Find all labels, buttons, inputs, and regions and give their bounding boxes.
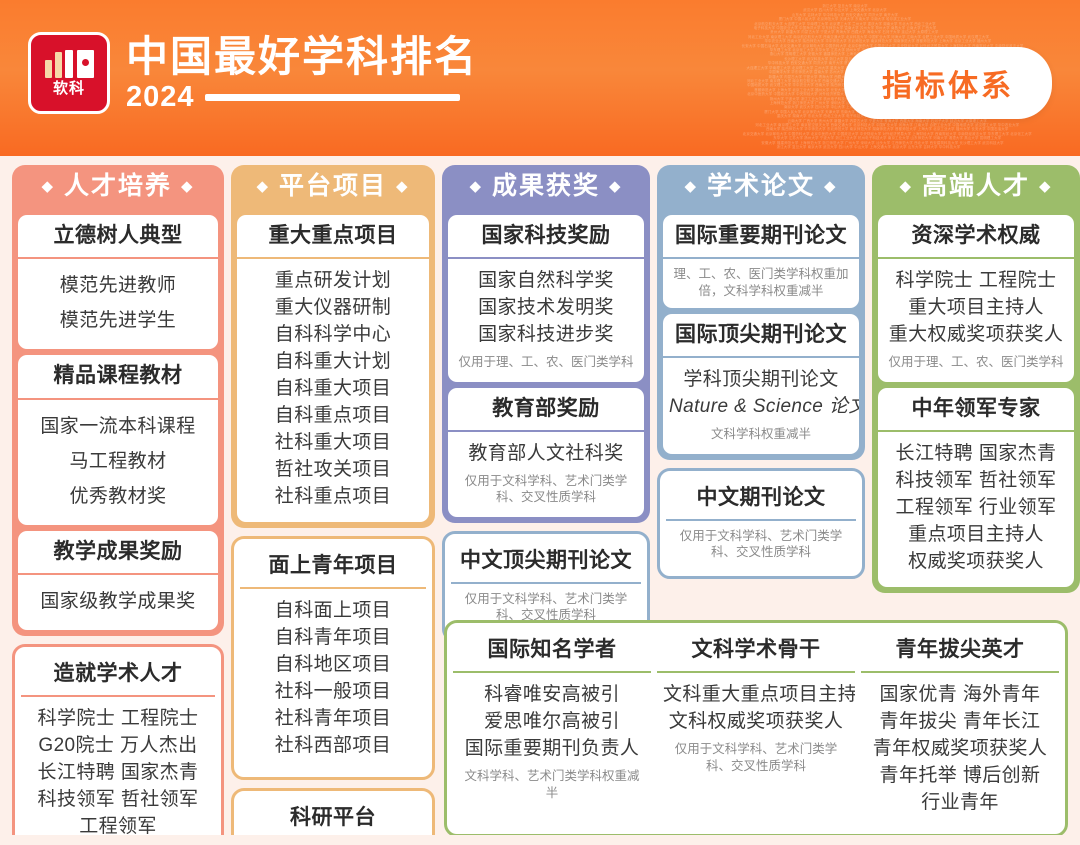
bottom-strip: [0, 835, 1080, 845]
indicator-item: 自科青年项目: [246, 625, 420, 652]
indicator-card-title: 中文期刊论文: [666, 477, 856, 521]
indicator-note: 仅用于文科学科、艺术门类学科、交叉性质学科: [454, 473, 638, 506]
indicator-item: 科技领军 哲社领军: [884, 468, 1068, 495]
indicator-item: 社科重大项目: [243, 430, 423, 457]
brand-block: 软科 中国最好学科排名 2024: [28, 32, 478, 114]
indicator-card: 文科学术骨干文科重大重点项目主持人文科权威奖项获奖人仅用于文科学科、艺术门类学科…: [657, 629, 855, 828]
indicator-item: 国家级教学成果奖: [24, 584, 212, 619]
indicator-card-body: 重点研发计划重大仪器研制自科科学中心自科重大计划自科重大项目自科重点项目社科重大…: [237, 259, 429, 522]
indicator-item: 权威奖项获奖人: [884, 549, 1068, 576]
indicator-card-title: 中年领军专家: [878, 388, 1074, 432]
indicator-card-title: 文科学术骨干: [657, 629, 855, 673]
page-header: 浙江大学 复旦大学 南京大学武汉大学 四川大学 中山大学 上海交通大学 北京大学…: [0, 0, 1080, 156]
indicator-item: 科技领军 哲社领军: [27, 787, 209, 814]
indicator-card: 面上青年项目自科面上项目自科青年项目自科地区项目社科一般项目社科青年项目社科西部…: [240, 545, 426, 771]
indicator-card: 中文顶尖期刊论文仅用于文科学科、艺术门类学科、交叉性质学科: [451, 540, 641, 633]
title-rule: [205, 94, 460, 101]
indicator-group: ◆人才培养◆立德树人典型模范先进教师模范先进学生精品课程教材国家一流本科课程马工…: [12, 165, 224, 636]
indicator-item: 重大项目主持人: [884, 295, 1068, 322]
diamond-icon: ◆: [396, 178, 410, 195]
indicator-card-title: 国际重要期刊论文: [663, 215, 859, 259]
indicator-card: 重大重点项目重点研发计划重大仪器研制自科科学中心自科重大计划自科重大项目自科重点…: [237, 215, 429, 522]
indicator-card-body: 国家自然科学奖国家技术发明奖国家科技进步奖仅用于理、工、农、医门类学科: [448, 259, 644, 381]
indicator-column-talenthigh: ◆高端人才◆资深学术权威科学院士 工程院士重大项目主持人重大权威奖项获奖人仅用于…: [872, 165, 1080, 593]
page-title: 中国最好学科排名: [126, 34, 478, 79]
deco-line: 浙江大学 复旦大学 南京大学 武汉大学 四川大学 中山大学 上海交通大学 北京大…: [610, 145, 1080, 149]
indicator-item: 文科重大重点项目主持人: [663, 682, 849, 709]
indicator-group-outlined: 面上青年项目自科面上项目自科青年项目自科地区项目社科一般项目社科青年项目社科西部…: [231, 536, 435, 780]
indicator-item: 重大权威奖项获奖人: [884, 322, 1068, 349]
indicator-note: 仅用于理、工、农、医门类学科: [884, 354, 1068, 371]
indicator-column-talent: ◆人才培养◆立德树人典型模范先进教师模范先进学生精品课程教材国家一流本科课程马工…: [12, 165, 224, 845]
indicator-note: 仅用于文科学科、艺术门类学科、交叉性质学科: [457, 591, 635, 624]
letter-r-icon: [77, 50, 94, 78]
indicator-item: 行业青年: [867, 790, 1053, 817]
indicator-card-title: 国际顶尖期刊论文: [663, 314, 859, 358]
indicator-card: 国家科技奖励国家自然科学奖国家技术发明奖国家科技进步奖仅用于理、工、农、医门类学…: [448, 215, 644, 382]
indicator-item: 自科地区项目: [246, 652, 420, 679]
indicator-item: 国家科技进步奖: [454, 322, 638, 349]
indicator-group-outlined: 造就学术人才科学院士 工程院士G20院士 万人杰出长江特聘 国家杰青科技领军 哲…: [12, 644, 224, 845]
indicator-note: 仅用于理、工、农、医门类学科: [454, 354, 638, 371]
indicator-card-title: 国家科技奖励: [448, 215, 644, 259]
diamond-icon: ◆: [684, 178, 698, 195]
indicator-card-title: 教育部奖励: [448, 388, 644, 432]
indicator-item: G20院士 万人杰出: [27, 733, 209, 760]
diamond-icon: ◆: [824, 178, 838, 195]
indicator-item: 自科重点项目: [243, 403, 423, 430]
indicator-card-title: 立德树人典型: [18, 215, 218, 259]
indicator-item: 社科青年项目: [246, 706, 420, 733]
indicator-card-body: 科睿唯安高被引爱思唯尔高被引国际重要期刊负责人文科学科、艺术门类学科权重减半: [453, 673, 651, 812]
indicator-item: 马工程教材: [24, 444, 212, 479]
indicator-item: 重点项目主持人: [884, 522, 1068, 549]
indicator-card-title: 教学成果奖励: [18, 531, 218, 575]
indicator-card-body: 教育部人文社科奖仅用于文科学科、艺术门类学科、交叉性质学科: [448, 432, 644, 517]
logo-label: 软科: [53, 81, 85, 96]
indicator-card-body: 仅用于文科学科、艺术门类学科、交叉性质学科: [666, 521, 856, 570]
indicator-card-title: 国际知名学者: [453, 629, 651, 673]
indicator-item: 长江特聘 国家杰青: [884, 441, 1068, 468]
column-header-label: 人才培养: [64, 172, 172, 200]
indicator-item: 爱思唯尔高被引: [459, 709, 645, 736]
indicator-card-title: 资深学术权威: [878, 215, 1074, 259]
diamond-icon: ◆: [1039, 178, 1053, 195]
indicator-item: 青年拔尖 青年长江: [867, 709, 1053, 736]
diamond-icon: ◆: [469, 178, 483, 195]
indicator-item: 自科重大计划: [243, 349, 423, 376]
indicator-card-body: 国家优青 海外青年青年拔尖 青年长江青年权威奖项获奖人青年托举 博后创新行业青年: [861, 673, 1059, 828]
indicator-card: 国际重要期刊论文理、工、农、医门类学科权重加倍，文科学科权重减半: [663, 215, 859, 308]
diamond-icon: ◆: [181, 178, 195, 195]
infographic-page: 浙江大学 复旦大学 南京大学武汉大学 四川大学 中山大学 上海交通大学 北京大学…: [0, 0, 1080, 845]
indicator-item: 青年权威奖项获奖人: [867, 736, 1053, 763]
indicator-item: 科睿唯安高被引: [459, 682, 645, 709]
column-header-label: 学术论文: [707, 172, 815, 200]
indicator-card-title: 重大重点项目: [237, 215, 429, 259]
indicator-card-body: 科学院士 工程院士重大项目主持人重大权威奖项获奖人仅用于理、工、农、医门类学科: [878, 259, 1074, 381]
indicator-note: 仅用于文科学科、艺术门类学科、交叉性质学科: [663, 741, 849, 774]
indicator-item: 国家一流本科课程: [24, 409, 212, 444]
indicator-item: 哲社攻关项目: [243, 457, 423, 484]
indicator-item: 社科一般项目: [246, 679, 420, 706]
diamond-icon: ◆: [609, 178, 623, 195]
indicator-card-body: 理、工、农、医门类学科权重加倍，文科学科权重减半: [663, 259, 859, 308]
indicator-card-body: 自科面上项目自科青年项目自科地区项目社科一般项目社科青年项目社科西部项目: [240, 589, 426, 771]
indicator-item: 国际重要期刊负责人: [459, 736, 645, 763]
indicator-card: 国际顶尖期刊论文学科顶尖期刊论文Nature & Science 论文文科学科权…: [663, 314, 859, 454]
indicator-item: 模范先进教师: [24, 268, 212, 303]
indicator-item: 模范先进学生: [24, 303, 212, 338]
indicator-group-outlined: 中文期刊论文仅用于文科学科、艺术门类学科、交叉性质学科: [657, 468, 865, 579]
indicator-item: 国家优青 海外青年: [867, 682, 1053, 709]
indicator-card-body: 国家一流本科课程马工程教材优秀教材奖: [18, 400, 218, 525]
shanghairanking-logo: 软科: [28, 32, 110, 114]
column-header-talent: ◆人才培养◆: [18, 165, 218, 209]
indicator-card: 中文期刊论文仅用于文科学科、艺术门类学科、交叉性质学科: [666, 477, 856, 570]
indicator-item: 国家技术发明奖: [454, 295, 638, 322]
indicator-group: ◆平台项目◆重大重点项目重点研发计划重大仪器研制自科科学中心自科重大计划自科重大…: [231, 165, 435, 528]
brand-subtitle: 2024: [126, 83, 478, 112]
indicator-card: 资深学术权威科学院士 工程院士重大项目主持人重大权威奖项获奖人仅用于理、工、农、…: [878, 215, 1074, 382]
indicator-item: 科学院士 工程院士: [27, 706, 209, 733]
indicator-item: 工程领军 行业领军: [884, 495, 1068, 522]
indicator-card-title: 中文顶尖期刊论文: [451, 540, 641, 584]
indicator-card-body: 模范先进教师模范先进学生: [18, 259, 218, 349]
indicator-item: 国家自然科学奖: [454, 268, 638, 295]
indicator-card-body: 国家级教学成果奖: [18, 575, 218, 630]
indicator-item: 教育部人文社科奖: [454, 441, 638, 468]
indicator-system-badge: 指标体系: [844, 47, 1052, 119]
column-header-platform: ◆平台项目◆: [237, 165, 429, 209]
brand-titles: 中国最好学科排名 2024: [126, 34, 478, 112]
indicator-group: ◆成果获奖◆国家科技奖励国家自然科学奖国家技术发明奖国家科技进步奖仅用于理、工、…: [442, 165, 650, 523]
indicator-item: 文科权威奖项获奖人: [663, 709, 849, 736]
bar-chart-icon: [45, 50, 94, 78]
column-header-label: 高端人才: [922, 172, 1030, 200]
column-header-label: 成果获奖: [492, 172, 600, 200]
indicator-item: 长江特聘 国家杰青: [27, 760, 209, 787]
indicator-card: 立德树人典型模范先进教师模范先进学生: [18, 215, 218, 349]
indicator-card: 中年领军专家长江特聘 国家杰青科技领军 哲社领军工程领军 行业领军重点项目主持人…: [878, 388, 1074, 587]
indicator-note: 理、工、农、医门类学科权重加倍，文科学科权重减半: [669, 266, 853, 299]
indicator-card-body: 文科重大重点项目主持人文科权威奖项获奖人仅用于文科学科、艺术门类学科、交叉性质学…: [657, 673, 855, 785]
indicator-note: 仅用于文科学科、艺术门类学科、交叉性质学科: [672, 528, 850, 561]
indicator-card: 精品课程教材国家一流本科课程马工程教材优秀教材奖: [18, 355, 218, 525]
indicator-card: 教育部奖励教育部人文社科奖仅用于文科学科、艺术门类学科、交叉性质学科: [448, 388, 644, 517]
indicator-card: 造就学术人才科学院士 工程院士G20院士 万人杰出长江特聘 国家杰青科技领军 哲…: [21, 653, 215, 845]
indicator-column-award: ◆成果获奖◆国家科技奖励国家自然科学奖国家技术发明奖国家科技进步奖仅用于理、工、…: [442, 165, 650, 642]
indicator-note: 文科学科、艺术门类学科权重减半: [459, 768, 645, 801]
diamond-icon: ◆: [41, 178, 55, 195]
indicator-note: 文科学科权重减半: [669, 426, 853, 443]
indicator-card-body: 长江特聘 国家杰青科技领军 哲社领军工程领军 行业领军重点项目主持人权威奖项获奖…: [878, 432, 1074, 587]
indicator-item: 自科面上项目: [246, 598, 420, 625]
indicator-card: 青年拔尖英才国家优青 海外青年青年拔尖 青年长江青年权威奖项获奖人青年托举 博后…: [861, 629, 1059, 828]
column-header-label: 平台项目: [279, 172, 387, 200]
diamond-icon: ◆: [256, 178, 270, 195]
indicator-item: 科学院士 工程院士: [884, 268, 1068, 295]
diamond-icon: ◆: [899, 178, 913, 195]
indicator-item: 青年托举 博后创新: [867, 763, 1053, 790]
indicator-group: ◆高端人才◆资深学术权威科学院士 工程院士重大项目主持人重大权威奖项获奖人仅用于…: [872, 165, 1080, 593]
column-header-award: ◆成果获奖◆: [448, 165, 644, 209]
indicator-item: 自科科学中心: [243, 322, 423, 349]
indicator-card: 国际知名学者科睿唯安高被引爱思唯尔高被引国际重要期刊负责人文科学科、艺术门类学科…: [453, 629, 651, 828]
indicator-item: 重点研发计划: [243, 268, 423, 295]
indicator-card-title: 精品课程教材: [18, 355, 218, 399]
indicator-card-body: 学科顶尖期刊论文Nature & Science 论文文科学科权重减半: [663, 358, 859, 453]
high-end-talent-bottom-band: 国际知名学者科睿唯安高被引爱思唯尔高被引国际重要期刊负责人文科学科、艺术门类学科…: [444, 620, 1068, 837]
indicator-card-body: 科学院士 工程院士G20院士 万人杰出长江特聘 国家杰青科技领军 哲社领军工程领…: [21, 697, 215, 845]
column-header-talenthigh: ◆高端人才◆: [878, 165, 1074, 209]
indicator-card: 教学成果奖励国家级教学成果奖: [18, 531, 218, 630]
indicator-item: 重大仪器研制: [243, 295, 423, 322]
indicator-item: 社科重点项目: [243, 484, 423, 511]
indicator-column-paper: ◆学术论文◆国际重要期刊论文理、工、农、医门类学科权重加倍，文科学科权重减半国际…: [657, 165, 865, 579]
edition-year: 2024: [126, 83, 195, 112]
indicator-item: Nature & Science 论文: [669, 394, 853, 421]
indicator-card-title: 面上青年项目: [240, 545, 426, 589]
indicator-item: 自科重大项目: [243, 376, 423, 403]
indicator-item: 学科顶尖期刊论文: [669, 367, 853, 394]
indicator-item: 社科西部项目: [246, 733, 420, 760]
indicator-column-platform: ◆平台项目◆重大重点项目重点研发计划重大仪器研制自科科学中心自科重大计划自科重大…: [231, 165, 435, 845]
indicator-card-title: 青年拔尖英才: [861, 629, 1059, 673]
indicator-group: ◆学术论文◆国际重要期刊论文理、工、农、医门类学科权重加倍，文科学科权重减半国际…: [657, 165, 865, 460]
indicator-item: 优秀教材奖: [24, 479, 212, 514]
indicator-card-title: 造就学术人才: [21, 653, 215, 697]
column-header-paper: ◆学术论文◆: [663, 165, 859, 209]
